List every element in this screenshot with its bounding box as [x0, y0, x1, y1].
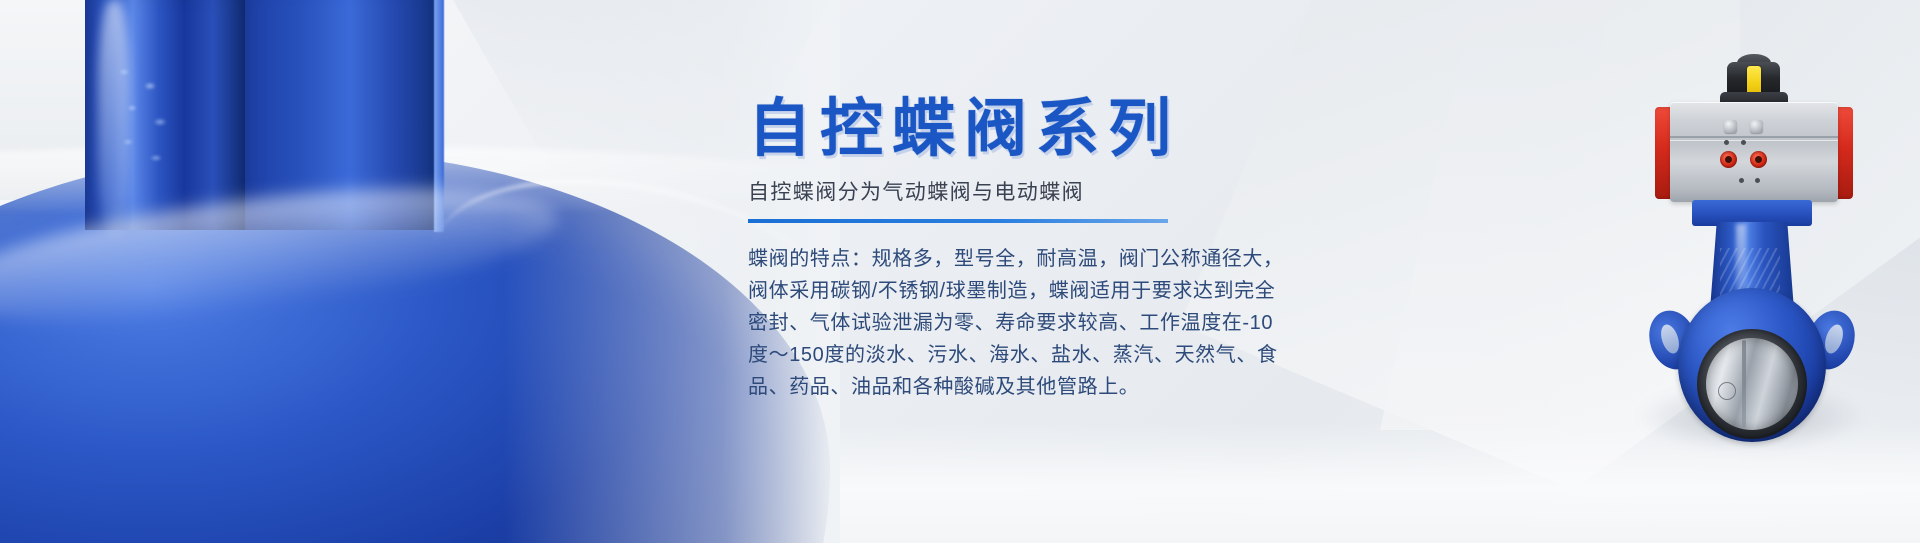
description-line: 蝶阀的特点：规格多，型号全，耐高温，阀门公称通径大， [748, 243, 1448, 275]
description-line: 密封、气体试验泄漏为零、寿命要求较高、工作温度在-10 [748, 307, 1448, 339]
valve-disc-seam [1742, 340, 1746, 428]
banner-title: 自控蝶阀系列 [748, 96, 1448, 162]
actuator-screw [1741, 140, 1746, 145]
description-line: 品、药品、油品和各种酸碱及其他管路上。 [748, 371, 1448, 403]
banner-description: 蝶阀的特点：规格多，型号全，耐高温，阀门公称通径大， 阀体采用碳钢/不锈钢/球墨… [748, 243, 1448, 403]
description-line: 阀体采用碳钢/不锈钢/球墨制造，蝶阀适用于要求达到完全 [748, 275, 1448, 307]
product-banner: 自控蝶阀系列 自控蝶阀分为气动蝶阀与电动蝶阀 蝶阀的特点：规格多，型号全，耐高温… [0, 0, 1920, 543]
actuator-screw [1739, 178, 1744, 183]
air-port-hole [1725, 156, 1732, 163]
actuator-bolt [1750, 120, 1763, 133]
actuator-groove-highlight [1670, 140, 1838, 141]
valve-disc-stamp [1718, 382, 1736, 400]
actuator-screw [1724, 140, 1729, 145]
actuator-groove [1670, 136, 1838, 138]
actuator-screw [1755, 178, 1760, 183]
valve-stem-texture [112, 60, 182, 180]
pneumatic-butterfly-valve-photo [1600, 52, 1900, 482]
actuator-bolt [1724, 120, 1737, 133]
air-port-hole [1755, 156, 1762, 163]
description-line: 度～150度的淡水、污水、海水、盐水、蒸汽、天然气、食 [748, 339, 1448, 371]
banner-copy: 自控蝶阀系列 自控蝶阀分为气动蝶阀与电动蝶阀 蝶阀的特点：规格多，型号全，耐高温… [748, 96, 1448, 403]
banner-subtitle: 自控蝶阀分为气动蝶阀与电动蝶阀 [748, 176, 1448, 206]
title-divider [748, 219, 1168, 223]
left-valve-photo [0, 0, 840, 543]
